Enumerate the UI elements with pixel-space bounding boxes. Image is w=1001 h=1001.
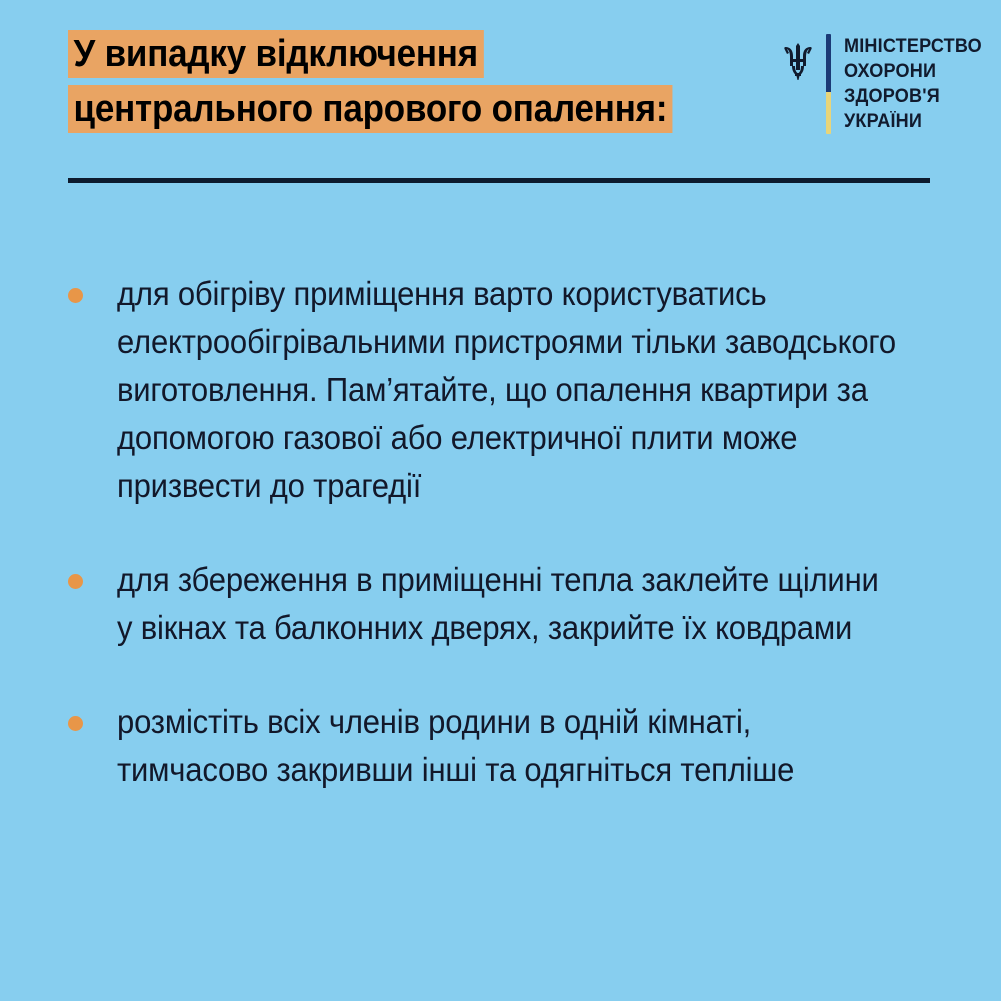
poster-root: У випадку відключення центрального паров… (0, 0, 1001, 1001)
bullet-dot-icon (68, 574, 83, 589)
ministry-name-line-2: ОХОРОНИ (844, 59, 982, 84)
ministry-name-line-1: МІНІСТЕРСТВО (844, 34, 982, 59)
header-divider-rule (68, 178, 930, 183)
list-item: розмістіть всіх членів родини в одній кі… (68, 698, 948, 794)
title-line-1: У випадку відключення (68, 30, 483, 78)
ukrainian-trident-icon (783, 42, 813, 80)
title-line-2: центрального парового опалення: (68, 85, 673, 133)
list-item: для обігріву приміщення варто користуват… (68, 270, 948, 510)
ministry-name: МІНІСТЕРСТВО ОХОРОНИ ЗДОРОВ'Я УКРАЇНИ (844, 34, 989, 134)
advice-bullet-list: для обігріву приміщення варто користуват… (68, 270, 948, 840)
list-item-text: для збереження в приміщенні тепла заклей… (117, 556, 898, 652)
ministry-name-line-3: ЗДОРОВ'Я (844, 84, 982, 109)
logo-divider (826, 34, 831, 134)
list-item-text: для обігріву приміщення варто користуват… (117, 270, 898, 510)
ministry-logo: МІНІСТЕРСТВО ОХОРОНИ ЗДОРОВ'Я УКРАЇНИ (783, 34, 989, 136)
bullet-dot-icon (68, 288, 83, 303)
list-item: для збереження в приміщенні тепла заклей… (68, 556, 948, 652)
page-title: У випадку відключення центрального паров… (68, 30, 725, 133)
poster-header: У випадку відключення центрального паров… (0, 0, 1001, 150)
bullet-dot-icon (68, 716, 83, 731)
ministry-name-line-4: УКРАЇНИ (844, 109, 982, 134)
list-item-text: розмістіть всіх членів родини в одній кі… (117, 698, 898, 794)
